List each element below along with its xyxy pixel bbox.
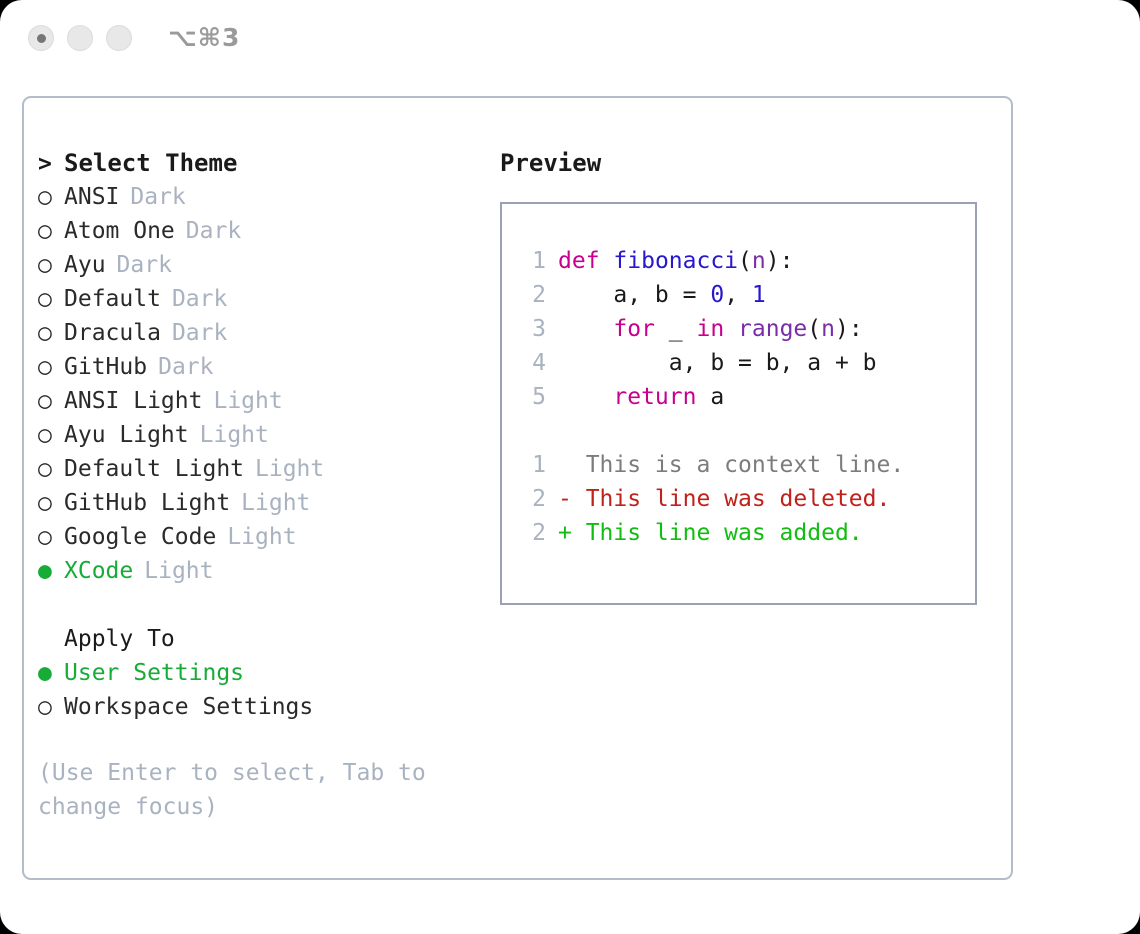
code-token-plain <box>558 312 613 346</box>
radio-unselected-icon: ○ <box>38 282 64 316</box>
keyboard-hint-text: (Use Enter to select, Tab to change focu… <box>38 756 448 824</box>
radio-selected-icon: ● <box>38 554 64 588</box>
code-line: 5 return a <box>502 380 975 414</box>
theme-option-xcode[interactable]: ●XCodeLight <box>38 554 468 588</box>
theme-option-ansi-light[interactable]: ○ANSI LightLight <box>38 384 468 418</box>
theme-option-github-light[interactable]: ○GitHub LightLight <box>38 486 468 520</box>
diff-line-ctx: 1 This is a context line. <box>502 448 975 482</box>
code-token-kw: return <box>613 380 696 414</box>
radio-unselected-icon: ○ <box>38 520 64 554</box>
theme-variant-tag: Light <box>255 452 324 486</box>
theme-option-label: Atom One <box>64 214 175 248</box>
code-line: 3 for _ in range(n): <box>502 312 975 346</box>
line-number: 2 <box>516 516 546 550</box>
theme-option-label: ANSI <box>64 180 119 214</box>
code-token-num: 1 <box>752 278 766 312</box>
apply-to-header-label: Apply To <box>64 622 175 656</box>
theme-option-ayu[interactable]: ○AyuDark <box>38 248 468 282</box>
code-token-plain: a, b = b, a + b <box>558 346 877 380</box>
diff-line-text: This is a context line. <box>558 448 904 482</box>
keyboard-shortcut-label: ⌥⌘3 <box>168 23 240 52</box>
code-token-var: n <box>752 244 766 278</box>
theme-option-label: Dracula <box>64 316 161 350</box>
code-token-plain: ( <box>738 244 752 278</box>
preview-column: Preview 1def fibonacci(n):2 a, b = 0, 13… <box>500 146 990 605</box>
code-token-plain <box>724 312 738 346</box>
code-line: 4 a, b = b, a + b <box>502 346 975 380</box>
code-token-plain <box>600 244 614 278</box>
apply-to-option-label: Workspace Settings <box>64 690 313 724</box>
theme-option-github[interactable]: ○GitHubDark <box>38 350 468 384</box>
preview-box: 1def fibonacci(n):2 a, b = 0, 13 for _ i… <box>500 202 977 605</box>
theme-list-column: > Select Theme ○ANSIDark○Atom OneDark○Ay… <box>38 146 468 724</box>
code-token-plain <box>558 380 613 414</box>
diff-line-text: - This line was deleted. <box>558 482 890 516</box>
radio-selected-icon: ● <box>38 656 64 690</box>
theme-option-label: Ayu <box>64 248 106 282</box>
theme-option-label: Default <box>64 282 161 316</box>
code-line: 1def fibonacci(n): <box>502 244 975 278</box>
apply-to-header: Apply To <box>38 622 468 656</box>
theme-variant-tag: Light <box>200 418 269 452</box>
code-token-var: n <box>821 312 835 346</box>
preview-title: Preview <box>500 146 990 180</box>
theme-list-header-label: Select Theme <box>64 146 237 180</box>
line-number: 4 <box>516 346 546 380</box>
record-dot-button[interactable] <box>28 25 54 51</box>
radio-unselected-icon: ○ <box>38 180 64 214</box>
diff-sample: 1 This is a context line.2- This line wa… <box>502 448 975 550</box>
apply-to-options-list: ●User Settings○Workspace Settings <box>38 656 468 724</box>
code-token-plain: _ <box>655 312 697 346</box>
code-token-num: 0 <box>710 278 724 312</box>
diff-line-text: + This line was added. <box>558 516 863 550</box>
theme-variant-tag: Dark <box>117 248 172 282</box>
radio-unselected-icon: ○ <box>38 486 64 520</box>
code-token-plain: ): <box>766 244 794 278</box>
code-token-kw: for <box>613 312 655 346</box>
title-bar: ⌥⌘3 <box>0 0 1140 80</box>
radio-unselected-icon: ○ <box>38 350 64 384</box>
theme-option-ayu-light[interactable]: ○Ayu LightLight <box>38 418 468 452</box>
apply-to-option-label: User Settings <box>64 656 244 690</box>
line-number: 5 <box>516 380 546 414</box>
theme-variant-tag: Light <box>213 384 282 418</box>
theme-option-default-light[interactable]: ○Default LightLight <box>38 452 468 486</box>
code-line: 2 a, b = 0, 1 <box>502 278 975 312</box>
theme-option-google-code[interactable]: ○Google CodeLight <box>38 520 468 554</box>
apply-to-option-user-settings[interactable]: ●User Settings <box>38 656 468 690</box>
radio-unselected-icon: ○ <box>38 690 64 724</box>
theme-option-label: GitHub <box>64 350 147 384</box>
theme-variant-tag: Light <box>241 486 310 520</box>
window-dot-2[interactable] <box>67 25 93 51</box>
line-number: 2 <box>516 482 546 516</box>
prompt-caret-icon: > <box>38 147 64 181</box>
theme-option-label: XCode <box>64 554 133 588</box>
code-token-plain: a <box>696 380 724 414</box>
theme-option-label: Google Code <box>64 520 216 554</box>
theme-option-label: GitHub Light <box>64 486 230 520</box>
app-window: ⌥⌘3 > Select Theme ○ANSIDark○Atom OneDar… <box>0 0 1140 934</box>
code-token-plain: a, b = <box>558 278 710 312</box>
theme-variant-tag: Dark <box>158 350 213 384</box>
theme-option-atom-one[interactable]: ○Atom OneDark <box>38 214 468 248</box>
code-token-plain: , <box>724 278 752 312</box>
code-diff-gap <box>502 414 975 448</box>
list-spacer <box>38 588 468 622</box>
code-sample: 1def fibonacci(n):2 a, b = 0, 13 for _ i… <box>502 244 975 414</box>
theme-option-label: ANSI Light <box>64 384 202 418</box>
theme-variant-tag: Light <box>227 520 296 554</box>
theme-list-header: > Select Theme <box>38 146 468 180</box>
radio-unselected-icon: ○ <box>38 214 64 248</box>
diff-line-add: 2+ This line was added. <box>502 516 975 550</box>
radio-unselected-icon: ○ <box>38 418 64 452</box>
theme-variant-tag: Dark <box>186 214 241 248</box>
theme-variant-tag: Light <box>144 554 213 588</box>
line-number: 1 <box>516 448 546 482</box>
radio-unselected-icon: ○ <box>38 248 64 282</box>
radio-unselected-icon: ○ <box>38 384 64 418</box>
code-token-kw: def <box>558 244 600 278</box>
diff-line-del: 2- This line was deleted. <box>502 482 975 516</box>
radio-unselected-icon: ○ <box>38 452 64 486</box>
line-number: 1 <box>516 244 546 278</box>
theme-option-label: Default Light <box>64 452 244 486</box>
theme-variant-tag: Dark <box>130 180 185 214</box>
theme-options-list: ○ANSIDark○Atom OneDark○AyuDark○DefaultDa… <box>38 180 468 588</box>
theme-option-ansi[interactable]: ○ANSIDark <box>38 180 468 214</box>
theme-variant-tag: Dark <box>172 282 227 316</box>
code-token-plain: ( <box>807 312 821 346</box>
code-token-kw: in <box>696 312 724 346</box>
theme-picker-panel: > Select Theme ○ANSIDark○Atom OneDark○Ay… <box>22 96 1013 880</box>
traffic-lights <box>28 25 132 51</box>
line-number: 3 <box>516 312 546 346</box>
theme-variant-tag: Dark <box>172 316 227 350</box>
line-number: 2 <box>516 278 546 312</box>
theme-option-dracula[interactable]: ○DraculaDark <box>38 316 468 350</box>
window-dot-3[interactable] <box>106 25 132 51</box>
record-indicator-icon <box>37 34 46 43</box>
code-token-var: range <box>738 312 807 346</box>
radio-unselected-icon: ○ <box>38 316 64 350</box>
theme-option-label: Ayu Light <box>64 418 189 452</box>
theme-option-default[interactable]: ○DefaultDark <box>38 282 468 316</box>
apply-to-option-workspace-settings[interactable]: ○Workspace Settings <box>38 690 468 724</box>
code-token-fn: fibonacci <box>613 244 738 278</box>
code-token-plain: ): <box>835 312 863 346</box>
